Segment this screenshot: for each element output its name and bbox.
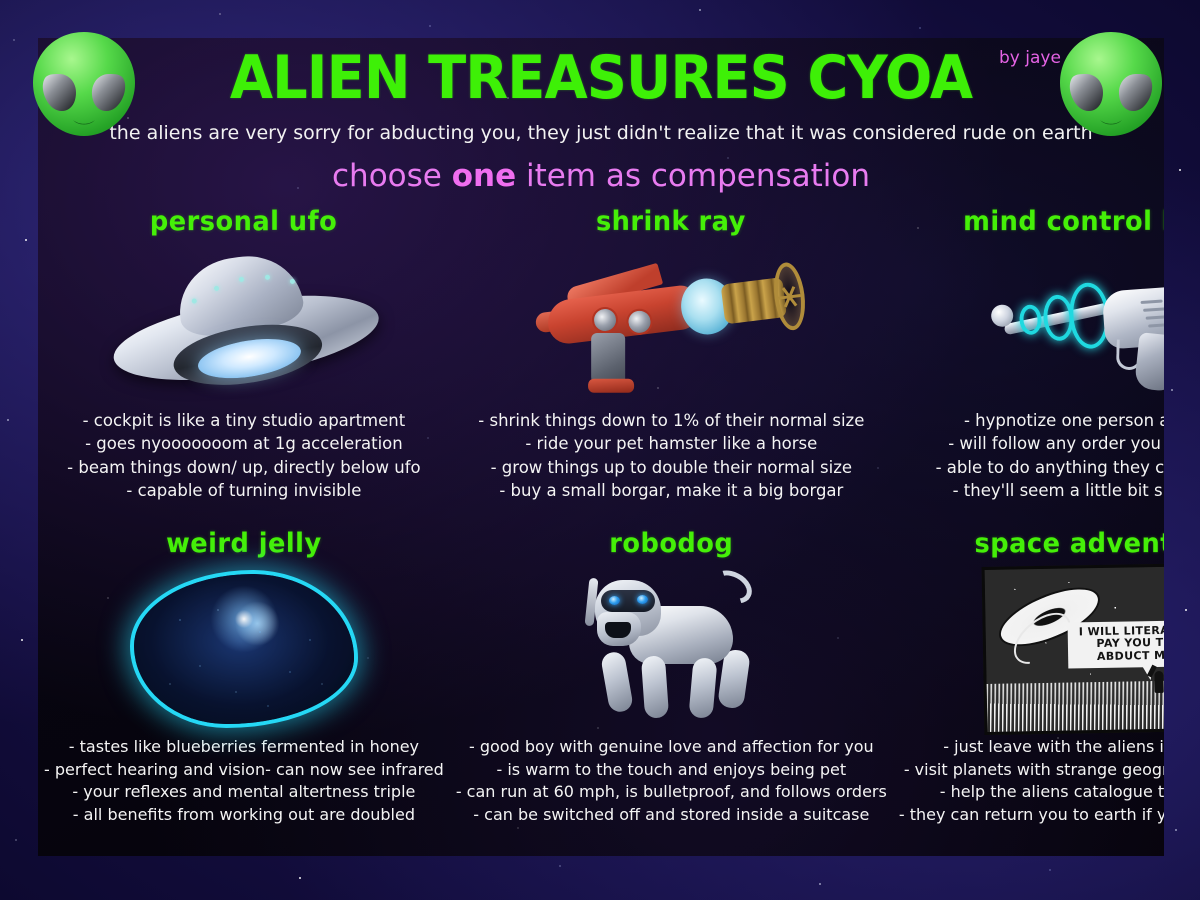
bullet-line: - hypnotize one person at a time [936,409,1164,432]
item-artwork-ufo [44,239,444,409]
bullet-line: - can be switched off and stored inside … [456,804,887,827]
item-artwork-weird-jelly [44,561,444,736]
item-bullets: - shrink things down to 1% of their norm… [478,409,864,503]
choose-prefix: choose [332,158,452,194]
item-card-shrink-ray[interactable]: shrink ray [450,206,893,528]
bullet-line: - shrink things down to 1% of their norm… [478,409,864,432]
item-title: mind control laser [963,206,1164,237]
apology-subtitle: the aliens are very sorry for abducting … [38,122,1164,144]
item-title: robodog [609,528,733,559]
bullet-line: - help the aliens catalogue the universe [899,781,1164,804]
bullet-line: - your reflexes and mental altertness tr… [44,781,444,804]
item-bullets: - cockpit is like a tiny studio apartmen… [67,409,420,503]
item-card-robodog[interactable]: robodog [450,528,893,850]
item-artwork-space-adventure: I WILL LITERALLY PAY YOU TO ABDUCT ME [899,561,1164,736]
poster-header: ALIEN TREASURES CYOA by jaye the aliens … [38,38,1164,194]
shrink-ray-grip-base [588,379,634,393]
title-row: ALIEN TREASURES CYOA by jaye [38,40,1164,116]
item-title: space adventure [975,528,1164,559]
item-card-weird-jelly[interactable]: weird jelly - tastes like blueberries fe… [38,528,450,850]
shrink-ray-emitter-dish [771,261,809,332]
item-artwork-mind-control-laser [899,239,1164,409]
robodog-leg [641,655,669,719]
bullet-line: - perfect hearing and vision- can now se… [44,759,444,782]
bullet-line: - buy a small borgar, make it a big borg… [478,479,864,502]
alien-head-icon-right [1052,28,1170,140]
bullet-line: - visit planets with strange geography a… [899,759,1164,782]
choose-instruction: choose one item as compensation [38,158,1164,194]
bullet-line: - they can return you to earth if you ge… [899,804,1164,827]
bullet-line: - beam things down/ up, directly below u… [67,456,420,479]
item-card-personal-ufo[interactable]: personal ufo - coc [38,206,450,528]
sketch-grass-field [986,680,1164,732]
item-card-space-adventure[interactable]: space adventure I WILL LITERALLY PAY YOU… [893,528,1164,850]
item-bullets: - just leave with the aliens in their sh… [899,736,1164,827]
robodog-leg [689,657,718,719]
item-title: shrink ray [596,206,746,237]
bullet-line: - ride your pet hamster like a horse [478,432,864,455]
space-adventure-sketch: I WILL LITERALLY PAY YOU TO ABDUCT ME [981,562,1164,734]
bullet-line: - is warm to the touch and enjoys being … [456,759,887,782]
robodog-mouth [605,622,631,638]
cyoa-poster: ALIEN TREASURES CYOA by jaye the aliens … [0,0,1200,900]
sketch-speech-bubble: I WILL LITERALLY PAY YOU TO ABDUCT ME [1067,620,1164,668]
bullet-line: - capable of turning invisible [67,479,420,502]
laser-grip [1134,332,1164,392]
bullet-line: - goes nyooooooom at 1g acceleration [67,432,420,455]
alien-head-icon-left [25,28,143,140]
robodog-tail [707,564,758,610]
choose-emphasis: one [452,158,516,194]
bullet-line: - tastes like blueberries fermented in h… [44,736,444,759]
choose-suffix: item as compensation [516,158,870,194]
robodog-illustration [571,566,771,731]
item-card-mind-control-laser[interactable]: mind control laser [893,206,1164,528]
sketch-person-figure [1154,670,1163,692]
bullet-line: - good boy with genuine love and affecti… [456,736,887,759]
poster-inner-panel: ALIEN TREASURES CYOA by jaye the aliens … [38,38,1164,856]
laser-vent-slots [1140,298,1164,329]
bullet-line: - grow things up to double their normal … [478,456,864,479]
bullet-line: - all benefits from working out are doub… [44,804,444,827]
bullet-line: - can run at 60 mph, is bulletproof, and… [456,781,887,804]
item-bullets: - good boy with genuine love and affecti… [456,736,887,827]
item-bullets: - tastes like blueberries fermented in h… [44,736,444,827]
item-artwork-shrink-ray [456,239,887,409]
bullet-line: - will follow any order you give them [936,432,1164,455]
item-title: weird jelly [166,528,322,559]
robodog-leg [600,650,634,713]
item-bullets: - hypnotize one person at a time - will … [936,409,1164,503]
page-title: ALIEN TREASURES CYOA [230,43,972,113]
mind-control-laser-illustration [969,245,1164,402]
item-title: personal ufo [150,206,337,237]
bullet-line: - they'll seem a little bit spaced out [936,479,1164,502]
item-grid: personal ufo - coc [38,206,1164,850]
weird-jelly-illustration [134,574,354,724]
item-artwork-robodog [456,561,887,736]
bullet-line: - just leave with the aliens in their sh… [899,736,1164,759]
shrink-ray-illustration [534,244,808,405]
bullet-line: - able to do anything they can normally [936,456,1164,479]
jelly-blob [134,574,354,724]
ufo-illustration [94,228,394,420]
